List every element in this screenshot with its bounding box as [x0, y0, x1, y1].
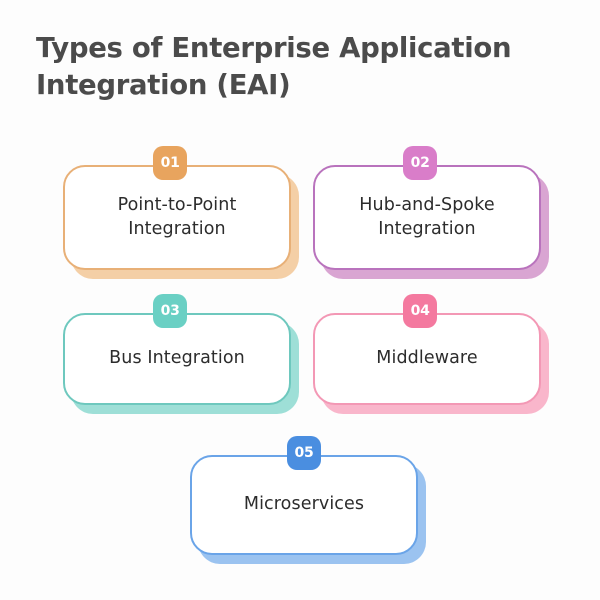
card-label: Bus Integration: [93, 347, 261, 370]
card-label: Point-to-Point Integration: [102, 194, 253, 240]
eai-type-card[interactable]: Microservices05: [190, 455, 418, 555]
card-number-badge: 04: [403, 294, 437, 328]
eai-type-card[interactable]: Middleware04: [313, 313, 541, 405]
card-number-badge: 01: [153, 146, 187, 180]
card-label: Microservices: [228, 493, 380, 516]
card-label: Hub-and-Spoke Integration: [343, 194, 510, 240]
card-face[interactable]: Microservices: [190, 455, 418, 555]
eai-type-card[interactable]: Point-to-Point Integration01: [63, 165, 291, 270]
card-face[interactable]: Hub-and-Spoke Integration: [313, 165, 541, 270]
card-number-badge: 03: [153, 294, 187, 328]
card-label: Middleware: [360, 347, 493, 370]
eai-type-card[interactable]: Hub-and-Spoke Integration02: [313, 165, 541, 270]
card-number-badge: 02: [403, 146, 437, 180]
card-number-badge: 05: [287, 436, 321, 470]
eai-type-card[interactable]: Bus Integration03: [63, 313, 291, 405]
card-grid: Point-to-Point Integration01Hub-and-Spok…: [0, 0, 600, 600]
card-face[interactable]: Point-to-Point Integration: [63, 165, 291, 270]
